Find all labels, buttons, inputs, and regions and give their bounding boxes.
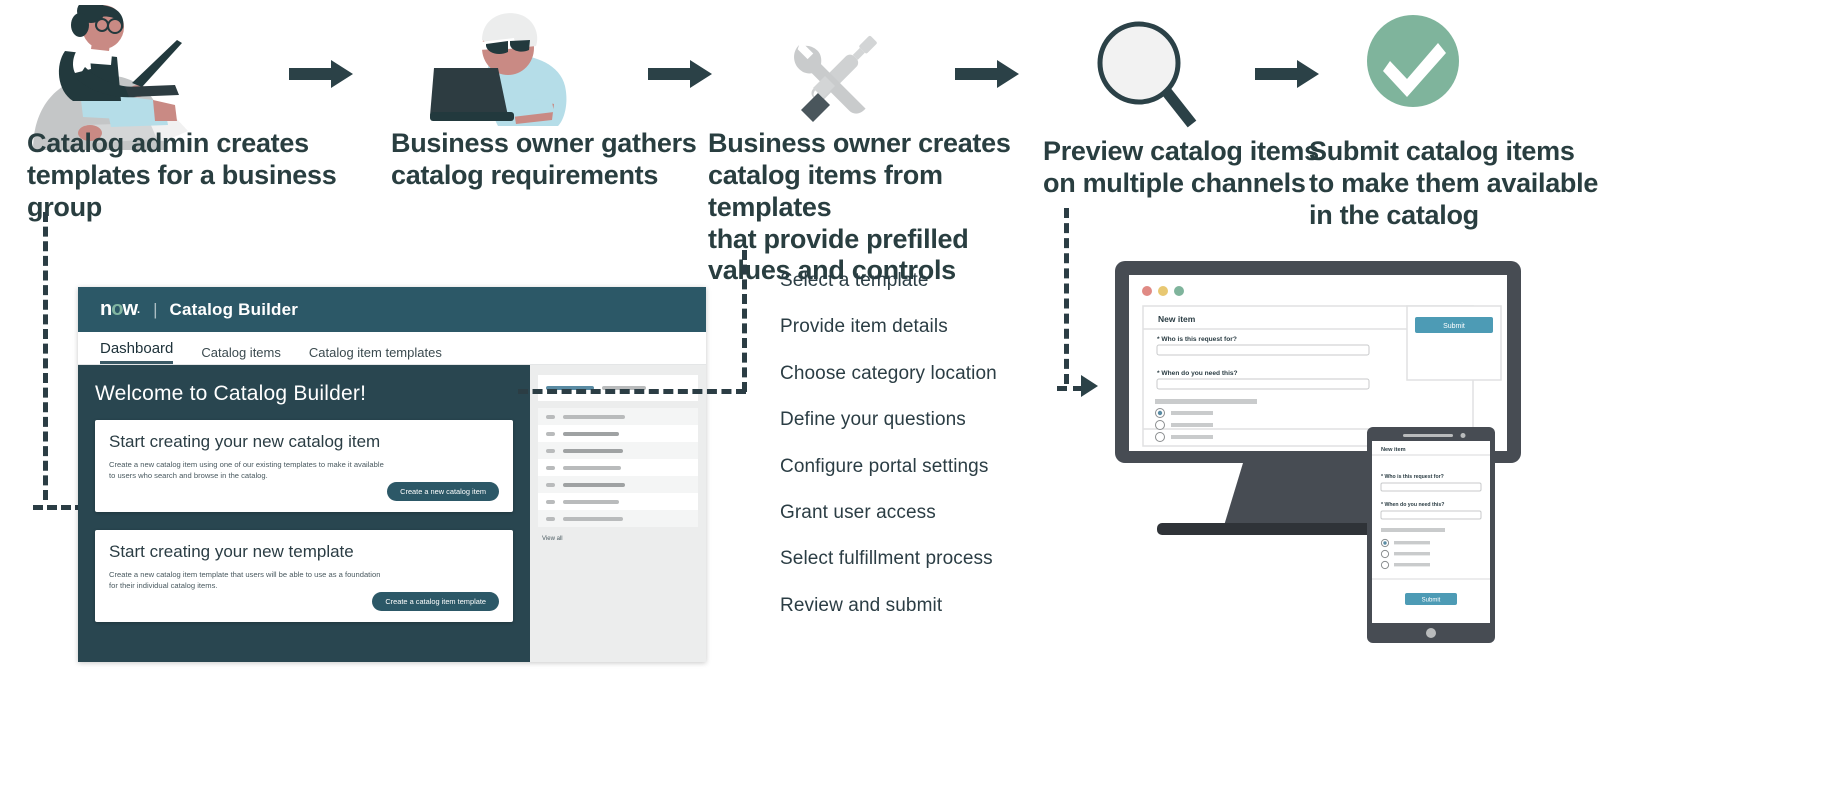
stage-title-line: that provide prefilled — [708, 224, 1038, 256]
diagram-canvas: Catalog admin creates templates for a bu… — [0, 0, 1831, 810]
servicenow-logo: now. — [100, 298, 139, 321]
magnifying-glass-icon — [1093, 18, 1198, 128]
stage-title-line: on multiple channels — [1043, 168, 1343, 200]
stage-title-line: to make them available — [1309, 168, 1619, 200]
stage-title-line: Business owner creates — [708, 128, 1038, 160]
step-item: Select fulfillment process — [780, 548, 1040, 570]
logo-w: w — [122, 298, 137, 321]
tab-catalog-item-templates[interactable]: Catalog item templates — [309, 345, 442, 364]
green-check-circle-icon — [1366, 3, 1460, 125]
step-item: Choose category location — [780, 363, 1040, 385]
placeholder-list — [538, 408, 698, 527]
card-body-line1: Create a new catalog item using one of o… — [109, 459, 499, 470]
submit-button-label: Submit — [1443, 323, 1465, 330]
app-body: Welcome to Catalog Builder! Start creati… — [78, 365, 706, 662]
step-item: Grant user access — [780, 502, 1040, 524]
right-arrow-icon — [955, 58, 1019, 95]
card-new-template: Start creating your new template Create … — [95, 530, 513, 622]
connector-arrow-stage4 — [1081, 375, 1098, 397]
tablet-form-field1-label: * Who is this request for? — [1381, 474, 1444, 480]
right-arrow-icon — [289, 58, 353, 95]
stage-title-line: Business owner gathers — [391, 128, 721, 160]
connector-line-stage4-horizontal — [1057, 386, 1083, 391]
stage-title-business-owner-creates: Business owner creates catalog items fro… — [708, 128, 1038, 287]
tab-dashboard[interactable]: Dashboard — [100, 340, 173, 364]
list-item — [538, 442, 698, 459]
app-right-panel: View all — [530, 365, 706, 662]
stage-title-submit-catalog-items: Submit catalog items to make them availa… — [1309, 136, 1619, 232]
placeholder-toolbar — [538, 375, 698, 401]
step-item: Configure portal settings — [780, 456, 1040, 478]
app-tab-bar: Dashboard Catalog items Catalog item tem… — [78, 332, 706, 365]
create-new-catalog-item-button[interactable]: Create a new catalog item — [387, 482, 499, 501]
connector-line-stage1 — [43, 212, 48, 500]
tablet-form-title: New item — [1381, 447, 1406, 453]
product-title: Catalog Builder — [169, 300, 298, 320]
card-body-line2: for their individual catalog items. — [109, 580, 499, 591]
right-arrow-icon — [1255, 58, 1319, 95]
monitor-form-field1-label: * Who is this request for? — [1157, 336, 1237, 343]
monitor-form-title: New item — [1158, 314, 1195, 324]
welcome-heading: Welcome to Catalog Builder! — [95, 382, 530, 406]
stage-title-line: Submit catalog items — [1309, 136, 1619, 168]
card-body-line1: Create a new catalog item template that … — [109, 569, 499, 580]
list-item — [538, 476, 698, 493]
logo-n: n — [100, 298, 111, 321]
steps-list: Select a template Provide item details C… — [780, 270, 1040, 641]
step-item: Select a template — [780, 270, 1040, 292]
card-new-catalog-item: Start creating your new catalog item Cre… — [95, 420, 513, 512]
wrench-screwdriver-icon — [783, 22, 893, 127]
card-heading: Start creating your new template — [109, 542, 499, 562]
stage-title-line: catalog items from templates — [708, 160, 1038, 224]
header-separator: | — [153, 300, 157, 320]
stage-title-line: templates for a business group — [27, 160, 377, 224]
tablet-form-field2-label: * When do you need this? — [1381, 502, 1444, 508]
monitor-form-field2-label: * When do you need this? — [1157, 370, 1238, 377]
list-item — [538, 510, 698, 527]
view-all-link[interactable]: View all — [538, 536, 698, 542]
app-header: now. | Catalog Builder — [78, 287, 706, 332]
stage-title-catalog-admin: Catalog admin creates templates for a bu… — [27, 128, 377, 224]
list-item — [538, 425, 698, 442]
tab-catalog-items[interactable]: Catalog items — [201, 345, 280, 364]
logo-o: o — [111, 298, 122, 321]
step-item: Review and submit — [780, 595, 1040, 617]
catalog-builder-screenshot: now. | Catalog Builder Dashboard Catalog… — [78, 287, 706, 662]
stage-title-line: catalog requirements — [391, 160, 721, 192]
stage-title-business-owner-gathers: Business owner gathers catalog requireme… — [391, 128, 721, 192]
stage-title-line: Preview catalog items — [1043, 136, 1343, 168]
stage-title-preview-catalog-items: Preview catalog items on multiple channe… — [1043, 136, 1343, 200]
right-arrow-icon — [648, 58, 712, 95]
card-heading: Start creating your new catalog item — [109, 432, 499, 452]
stage-title-line: Catalog admin creates — [27, 128, 377, 160]
welcome-panel: Welcome to Catalog Builder! Start creati… — [78, 365, 530, 662]
step-item: Provide item details — [780, 316, 1040, 338]
list-item — [538, 408, 698, 425]
list-item — [538, 493, 698, 510]
tablet-submit-button-label: Submit — [1422, 598, 1441, 604]
list-item — [538, 459, 698, 476]
card-body-line2: to users who search and browse in the ca… — [109, 470, 499, 481]
step-item: Define your questions — [780, 409, 1040, 431]
create-catalog-item-template-button[interactable]: Create a catalog item template — [372, 592, 499, 611]
connector-line-stage3-horizontal — [518, 389, 746, 394]
connector-line-stage4 — [1064, 208, 1069, 384]
connector-line-stage3 — [742, 250, 747, 392]
stage-title-line: in the catalog — [1309, 200, 1619, 232]
man-with-laptop-illustration — [430, 8, 595, 128]
tablet-preview-mockup: Submit New item * Who is this request fo… — [1367, 427, 1497, 650]
